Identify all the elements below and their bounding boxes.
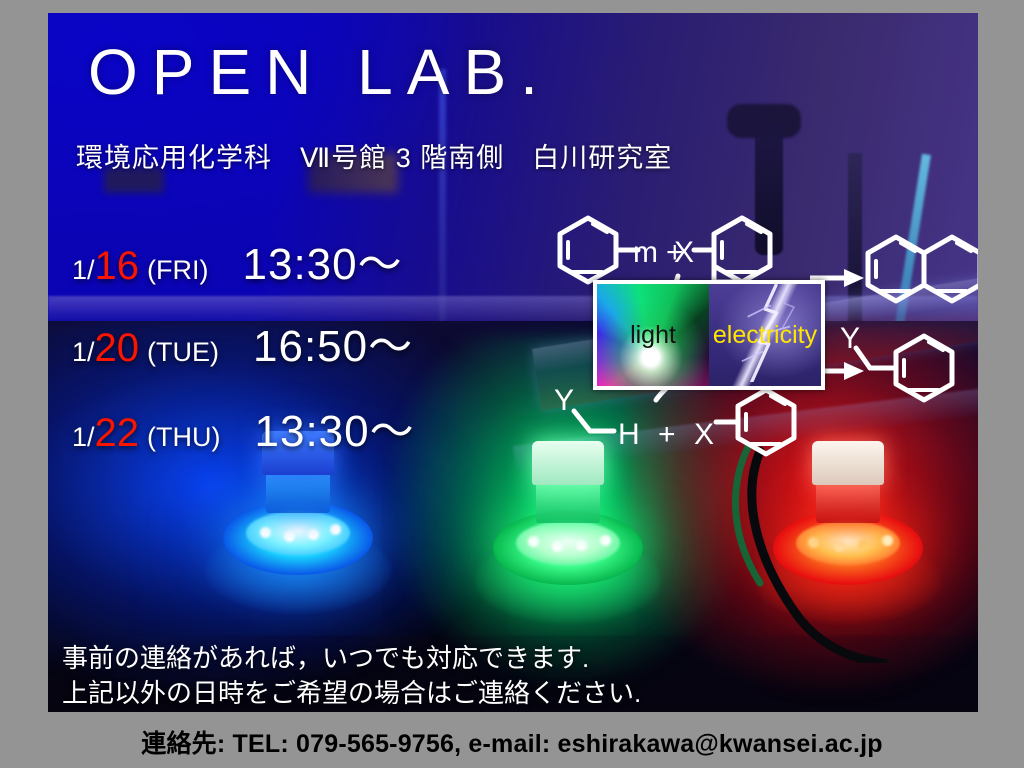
schedule-time: 13:30〜 [243, 240, 403, 289]
label-x-top: X [674, 236, 694, 269]
schedule-day: 16 [95, 244, 140, 288]
inset-light-label: light [630, 321, 676, 350]
led-ring-inner-red [796, 521, 900, 565]
schedule-weekday: (THU) [147, 422, 220, 452]
schedule-month: 1/ [72, 422, 95, 452]
schedule-row: 1/20(TUE)16:50〜 [72, 310, 413, 374]
bottle-body-green [536, 483, 600, 523]
subtitle-department: 環境応用化学科 Ⅶ号館 3 階南側 白川研究室 [76, 136, 672, 175]
label-y-product: Y [840, 322, 860, 355]
schedule-day: 22 [95, 411, 140, 455]
schedule-row: 1/16(FRI)13:30〜 [72, 228, 403, 292]
schedule-weekday: (FRI) [147, 255, 208, 285]
label-y-bottom: Y [554, 384, 574, 417]
inset-electricity-panel: electricity [709, 284, 821, 386]
led-ring-inner-green [516, 521, 620, 565]
light-electricity-inset: light electricity [593, 280, 825, 390]
bond-y-ch2 [574, 411, 590, 431]
notes-line-1: 事前の連絡があれば，いつでも対応できます. [62, 641, 641, 676]
notes-block: 事前の連絡があれば，いつでも対応できます. 上記以外の日時をご希望の場合はご連絡… [62, 641, 641, 711]
schedule-row: 1/22(THU)13:30〜 [72, 395, 415, 459]
schedule-month: 1/ [72, 337, 95, 367]
label-x-bottom: X [694, 418, 714, 451]
label-h: H [618, 418, 640, 451]
schedule-weekday: (TUE) [147, 337, 219, 367]
contact-line: 連絡先: TEL: 079-565-9756, e-mail: eshiraka… [0, 716, 1024, 768]
inset-electricity-label: electricity [713, 321, 817, 350]
page-title: OPEN LAB. [88, 35, 552, 109]
led-ring-inner-blue [246, 511, 350, 555]
schedule-month: 1/ [72, 255, 95, 285]
schedule-time: 13:30〜 [255, 407, 415, 456]
schedule-day: 20 [95, 326, 140, 370]
poster-image: OPEN LAB. 環境応用化学科 Ⅶ号館 3 階南側 白川研究室 1/16(F… [48, 13, 978, 712]
bottle-body-blue [266, 473, 330, 513]
label-plus-bottom: + [658, 418, 676, 451]
led-bottle-blue [198, 431, 398, 631]
notes-line-2: 上記以外の日時をご希望の場合はご連絡ください. [62, 676, 641, 711]
bottle-body-red [816, 483, 880, 523]
schedule-time: 16:50〜 [253, 322, 413, 371]
label-m: m [633, 236, 658, 269]
inset-light-panel: light [597, 284, 709, 386]
